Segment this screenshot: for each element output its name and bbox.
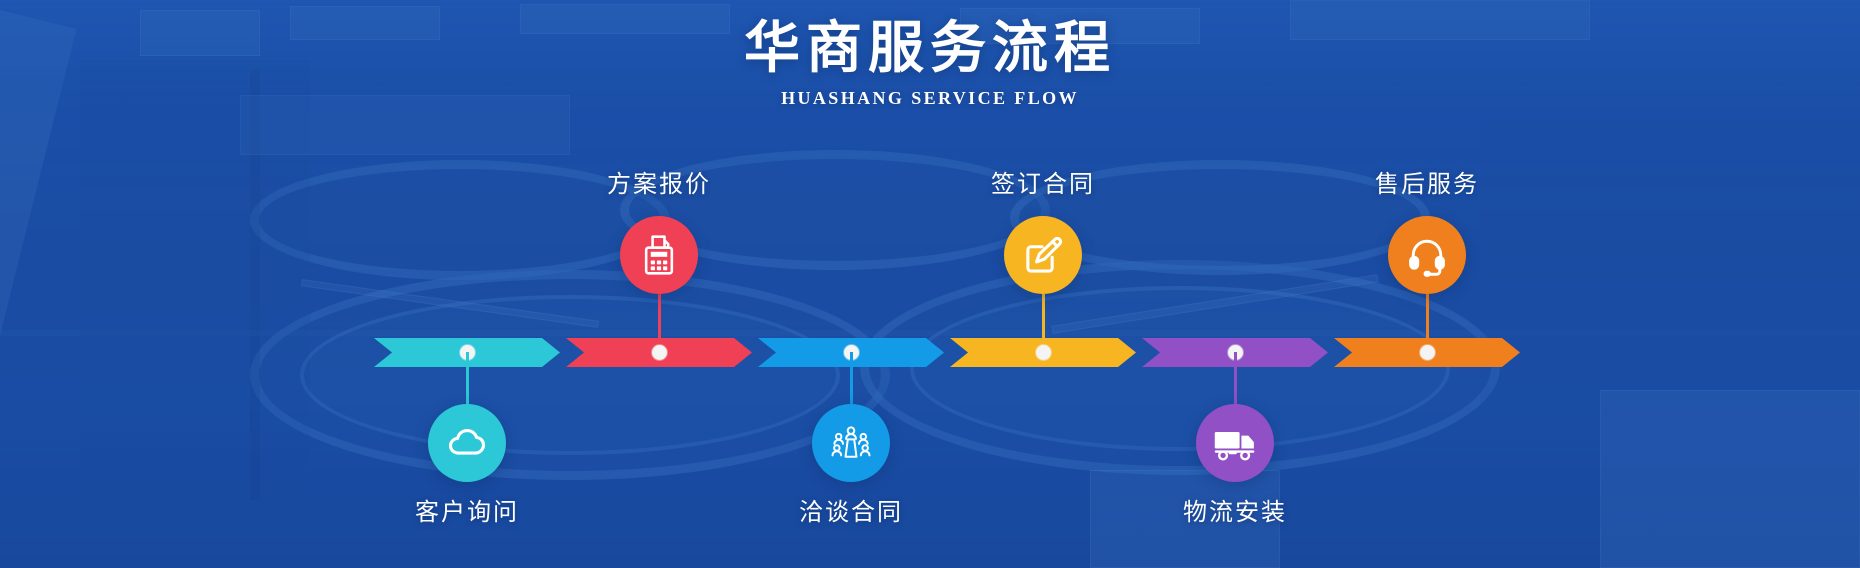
- flow-segment-marker: [652, 345, 667, 360]
- service-flow-banner: 华商服务流程 HUASHANG SERVICE FLOW 客户询问 方案报价: [0, 0, 1860, 568]
- flow-node-label-step-2: 方案报价: [529, 170, 789, 200]
- connector-line-step-6: [1426, 294, 1429, 344]
- connector-line-step-5: [1234, 352, 1237, 404]
- banner-heading: 华商服务流程 HUASHANG SERVICE FLOW: [0, 16, 1860, 109]
- flow-node-label-step-5: 物流安装: [1105, 498, 1365, 528]
- connector-line-step-3: [850, 352, 853, 404]
- page-subtitle: HUASHANG SERVICE FLOW: [0, 88, 1860, 109]
- connector-line-step-1: [466, 352, 469, 404]
- flow-node-label-step-1: 客户询问: [337, 498, 597, 528]
- connector-line-step-4: [1042, 294, 1045, 344]
- edit-contract-icon[interactable]: [1004, 216, 1082, 294]
- flow-segment-marker: [1420, 345, 1435, 360]
- flow-node-label-step-4: 签订合同: [913, 170, 1173, 200]
- delivery-truck-icon[interactable]: [1196, 404, 1274, 482]
- meeting-table-icon[interactable]: [812, 404, 890, 482]
- flow-node-label-step-6: 售后服务: [1297, 170, 1557, 200]
- page-title: 华商服务流程: [0, 16, 1860, 80]
- cloud-icon[interactable]: [428, 404, 506, 482]
- headset-support-icon[interactable]: [1388, 216, 1466, 294]
- calculator-receipt-icon[interactable]: [620, 216, 698, 294]
- flow-segment-marker: [1036, 345, 1051, 360]
- flow-node-label-step-3: 洽谈合同: [721, 498, 981, 528]
- connector-line-step-2: [658, 294, 661, 344]
